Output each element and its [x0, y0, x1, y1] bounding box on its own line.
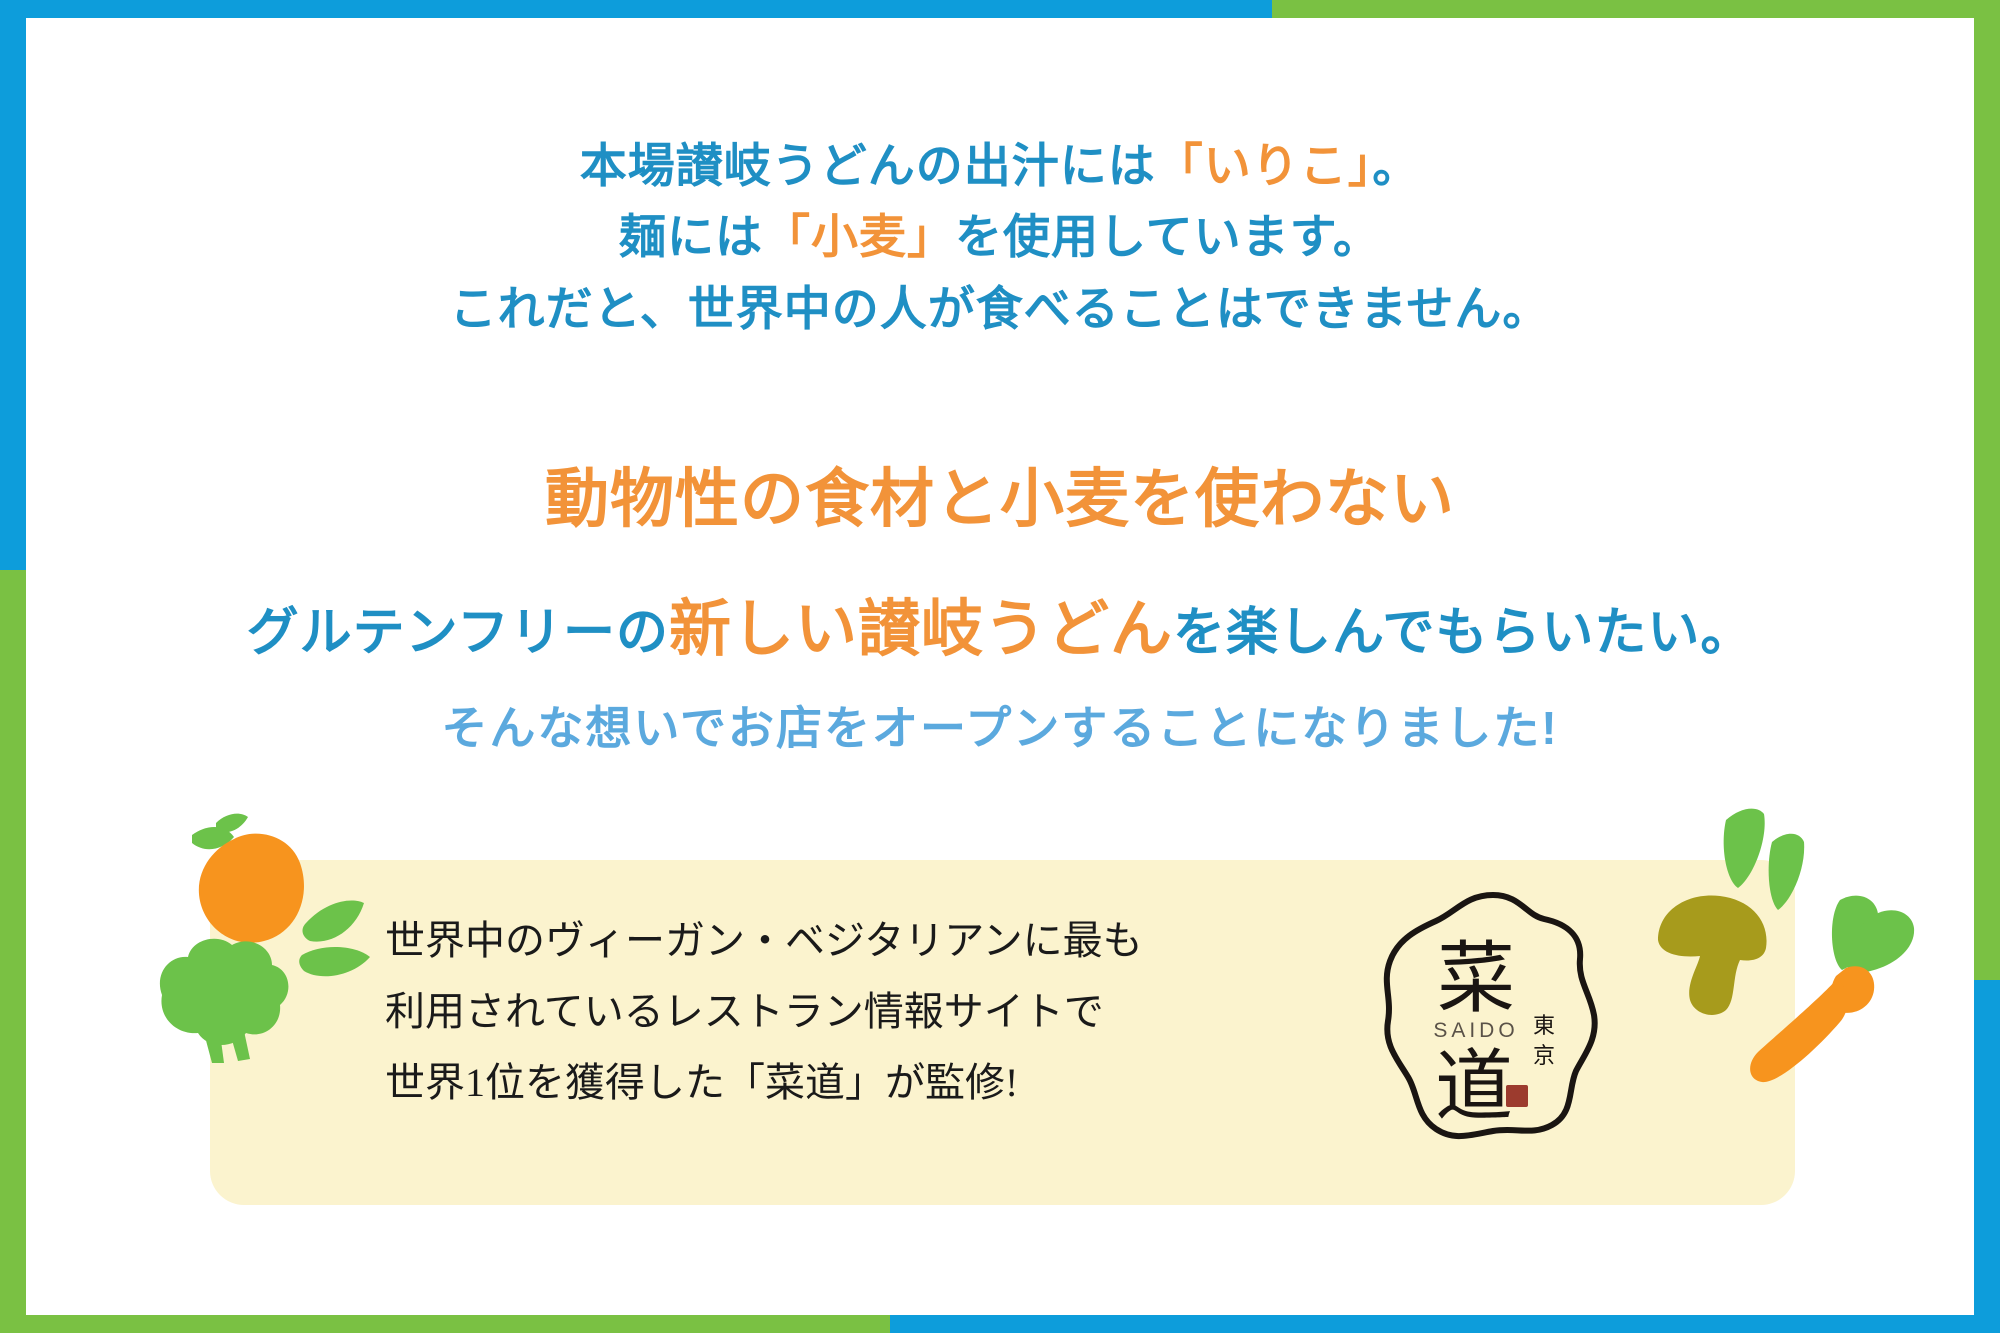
carrot-icon — [1750, 966, 1874, 1082]
logo-kanji-top: 菜 — [1437, 935, 1515, 1022]
frame-strip-right-blue — [1974, 980, 2000, 1333]
intro-line-1-seg-3: 。 — [1372, 139, 1420, 192]
broccoli-icon — [160, 939, 289, 1063]
logo-kanji-bottom: 道 — [1435, 1043, 1513, 1130]
frame-strip-right-green — [1974, 0, 2000, 980]
headline-secondary-emphasis: 新しい讃岐うどん — [669, 595, 1173, 664]
logo-location-kanji-1: 東 — [1533, 1013, 1555, 1038]
intro-line-2-seg-2: 「小麦」 — [763, 210, 955, 263]
intro-line-2: 麺には「小麦」を使用しています。 — [26, 201, 1974, 272]
card-line-2: 利用されているレストラン情報サイトで — [385, 976, 1365, 1047]
intro-line-3-seg-1: これだと、世界中の人が食べることはできません。 — [450, 282, 1551, 335]
leaf-icon — [299, 900, 370, 976]
logo-seal-icon — [1506, 1085, 1528, 1107]
saido-logo: 菜 SAIDO 道 東 京 — [1368, 885, 1618, 1150]
intro-line-1-seg-1: 本場讃岐うどんの出汁には — [580, 139, 1156, 192]
orange-fruit-icon — [192, 814, 304, 943]
headline-secondary: グルテンフリーの新しい讃岐うどんを楽しんでもらいたい。 — [26, 578, 1974, 668]
intro-line-2-seg-1: 麺には — [619, 210, 763, 263]
frame-strip-left-green — [0, 570, 26, 1333]
headline-primary: 動物性の食材と小麦を使わない — [26, 448, 1974, 540]
frame-strip-bottom-green — [0, 1315, 890, 1333]
supervision-card-text: 世界中のヴィーガン・ベジタリアンに最も 利用されているレストラン情報サイトで 世… — [385, 905, 1365, 1119]
leaf-icon — [1724, 809, 1805, 910]
intro-line-1: 本場讃岐うどんの出汁には「いりこ」。 — [26, 130, 1974, 201]
intro-line-1-seg-2: 「いりこ」 — [1156, 139, 1373, 192]
headline-secondary-suffix: を楽しんでもらいたい。 — [1173, 604, 1753, 662]
frame-strip-top-left — [0, 0, 1272, 18]
mushroom-icon — [1658, 895, 1767, 1015]
intro-line-3: これだと、世界中の人が食べることはできません。 — [26, 273, 1974, 344]
vegetable-decoration-left — [130, 805, 390, 1065]
leaf-icon — [1832, 896, 1914, 974]
vegetable-decoration-right — [1640, 800, 1920, 1090]
headline-secondary-prefix: グルテンフリーの — [247, 604, 669, 662]
poster-root: 本場讃岐うどんの出汁には「いりこ」。 麺には「小麦」を使用しています。 これだと… — [0, 0, 2000, 1333]
logo-romaji: SAIDO — [1433, 1019, 1518, 1042]
frame-strip-top-right — [1272, 0, 2000, 18]
frame-strip-left-blue — [0, 0, 26, 570]
intro-paragraph: 本場讃岐うどんの出汁には「いりこ」。 麺には「小麦」を使用しています。 これだと… — [26, 130, 1974, 344]
card-line-3: 世界1位を獲得した「菜道」が監修! — [385, 1047, 1365, 1118]
card-line-1: 世界中のヴィーガン・ベジタリアンに最も — [385, 905, 1365, 976]
headline-closing: そんな想いでお店をオープンすることになりました! — [26, 692, 1974, 758]
logo-location-kanji-2: 京 — [1533, 1043, 1555, 1068]
intro-line-2-seg-3: を使用しています。 — [955, 210, 1381, 263]
frame-strip-bottom-blue — [890, 1315, 2000, 1333]
